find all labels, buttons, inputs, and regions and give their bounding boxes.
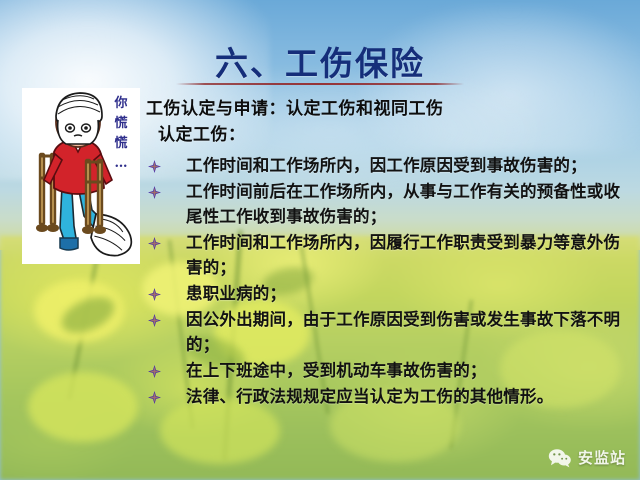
diamond-bullet-icon <box>148 288 161 301</box>
cartoon-caption-vertical-text: 你 慌 慌 … <box>108 94 134 174</box>
list-item: 患职业病的； <box>146 281 634 306</box>
diamond-bullet-icon <box>148 314 161 327</box>
injured-person-cartoon-image: 你 慌 慌 … <box>22 88 140 264</box>
diamond-bullet-icon <box>148 160 161 173</box>
list-item: 工作时间前后在工作场所内，从事与工作有关的预备性或收尾性工作收到事故伤害的； <box>146 179 634 229</box>
list-item-text: 工作时间和工作场所内，因履行工作职责受到暴力等意外伤害的； <box>186 230 634 280</box>
watermark: 安监站 <box>548 447 626 468</box>
caption-char: 慌 <box>108 114 134 134</box>
presentation-slide: 六、工伤保险 <box>0 0 640 480</box>
bullet-list: 工作时间和工作场所内，因工作原因受到事故伤害的； 工作时间前后在工作场所内，从事… <box>146 153 634 409</box>
body-subheading: 认定工伤： <box>146 122 634 148</box>
list-item: 工作时间和工作场所内，因工作原因受到事故伤害的； <box>146 153 634 178</box>
slide-title: 六、工伤保险 <box>0 44 640 84</box>
list-item: 工作时间和工作场所内，因履行工作职责受到暴力等意外伤害的； <box>146 230 634 280</box>
list-item: 因公外出期间，由于工作原因受到伤害或发生事故下落不明的； <box>146 307 634 357</box>
diamond-bullet-icon <box>148 237 161 250</box>
list-item: 在上下班途中，受到机动车事故伤害的； <box>146 358 634 383</box>
blossom-cluster <box>28 372 138 442</box>
list-item-text: 在上下班途中，受到机动车事故伤害的； <box>186 358 634 383</box>
list-item-text: 法律、行政法规规定应当认定为工伤的其他情形。 <box>186 384 634 409</box>
diamond-bullet-icon <box>148 186 161 199</box>
slide-body: 工伤认定与申请：认定工伤和视同工伤 认定工伤： 工作时间和工作场所内，因工作原因… <box>146 96 634 410</box>
list-item-text: 工作时间前后在工作场所内，从事与工作有关的预备性或收尾性工作收到事故伤害的； <box>186 179 634 229</box>
list-item-text: 患职业病的； <box>186 281 634 306</box>
diamond-bullet-icon <box>148 365 161 378</box>
list-item-text: 因公外出期间，由于工作原因受到伤害或发生事故下落不明的； <box>186 307 634 357</box>
caption-char: 你 <box>108 94 134 114</box>
watermark-label: 安监站 <box>578 447 626 468</box>
body-heading: 工伤认定与申请：认定工伤和视同工伤 <box>146 96 634 122</box>
list-item: 法律、行政法规规定应当认定为工伤的其他情形。 <box>146 384 634 409</box>
wechat-icon <box>548 448 572 468</box>
list-item-text: 工作时间和工作场所内，因工作原因受到事故伤害的； <box>186 153 634 178</box>
caption-char: 慌 <box>108 134 134 154</box>
caption-char: … <box>108 154 134 174</box>
diamond-bullet-icon <box>148 391 161 404</box>
title-underline <box>176 83 464 85</box>
